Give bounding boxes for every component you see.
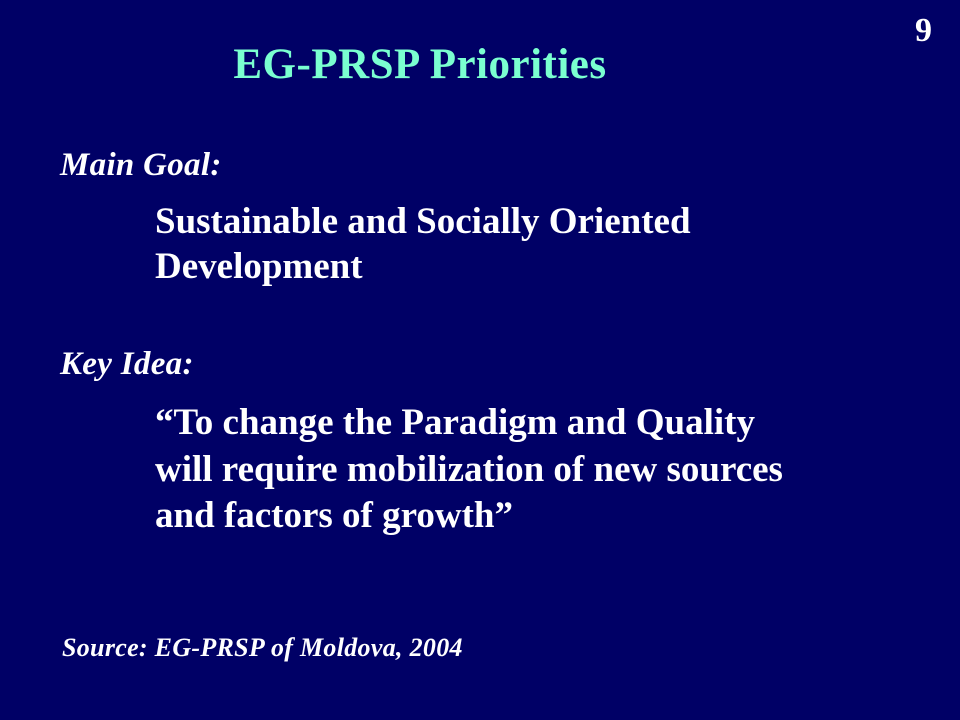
section-body-line: Development bbox=[155, 244, 935, 289]
section-main-goal: Main Goal: Sustainable and Socially Orie… bbox=[60, 146, 940, 289]
section-body-line: and factors of growth” bbox=[155, 493, 935, 540]
presentation-slide: 9 EG-PRSP Priorities Main Goal: Sustaina… bbox=[0, 0, 960, 720]
section-body-line: “To change the Paradigm and Quality bbox=[155, 400, 935, 447]
section-label-main-goal: Main Goal: bbox=[60, 146, 940, 185]
section-body-line: will require mobilization of new sources bbox=[155, 447, 935, 494]
section-body-line: Sustainable and Socially Oriented bbox=[155, 199, 935, 244]
section-key-idea: Key Idea: “To change the Paradigm and Qu… bbox=[60, 345, 940, 540]
page-title: EG-PRSP Priorities bbox=[0, 42, 960, 87]
section-label-key-idea: Key Idea: bbox=[60, 345, 940, 384]
section-body-main-goal: Sustainable and Socially Oriented Develo… bbox=[155, 199, 935, 289]
source-note: Source: EG-PRSP of Moldova, 2004 bbox=[62, 632, 463, 663]
section-body-key-idea: “To change the Paradigm and Quality will… bbox=[155, 400, 935, 540]
slide-body: Main Goal: Sustainable and Socially Orie… bbox=[60, 146, 940, 550]
